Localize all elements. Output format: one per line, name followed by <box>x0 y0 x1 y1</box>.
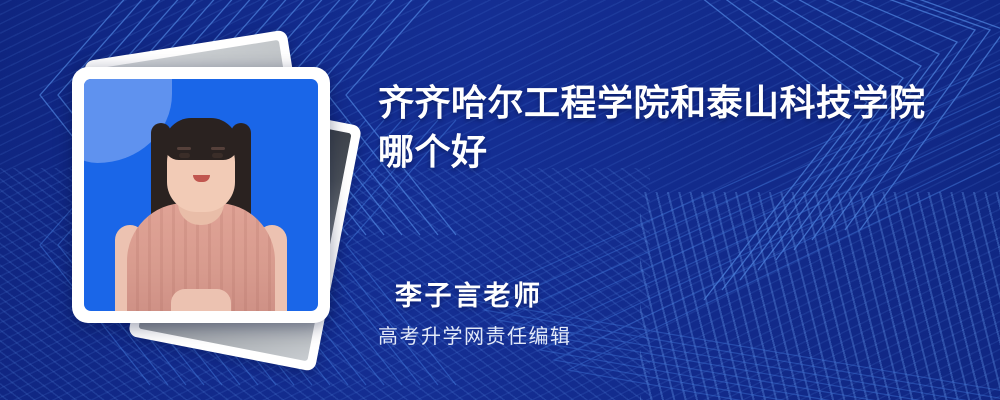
page-title: 齐齐哈尔工程学院和泰山科技学院哪个好 <box>378 78 958 176</box>
portrait-hair-top <box>164 118 238 160</box>
portrait-eyebrow-right <box>211 147 225 150</box>
author-role: 高考升学网责任编辑 <box>378 320 572 349</box>
portrait-hands <box>171 289 231 311</box>
photo-stack <box>46 40 346 360</box>
avatar <box>84 79 318 311</box>
article-cover-banner: 齐齐哈尔工程学院和泰山科技学院哪个好 李子言老师 高考升学网责任编辑 <box>0 0 1000 400</box>
portrait-eye-right <box>212 153 223 158</box>
author-name: 李子言老师 <box>395 274 543 313</box>
portrait-eye-left <box>179 153 190 158</box>
portrait-eyebrow-left <box>177 147 191 150</box>
author-photo-frame <box>72 67 330 323</box>
portrait-illustration <box>84 79 318 311</box>
text-content-block: 齐齐哈尔工程学院和泰山科技学院哪个好 李子言老师 高考升学网责任编辑 <box>378 0 978 400</box>
